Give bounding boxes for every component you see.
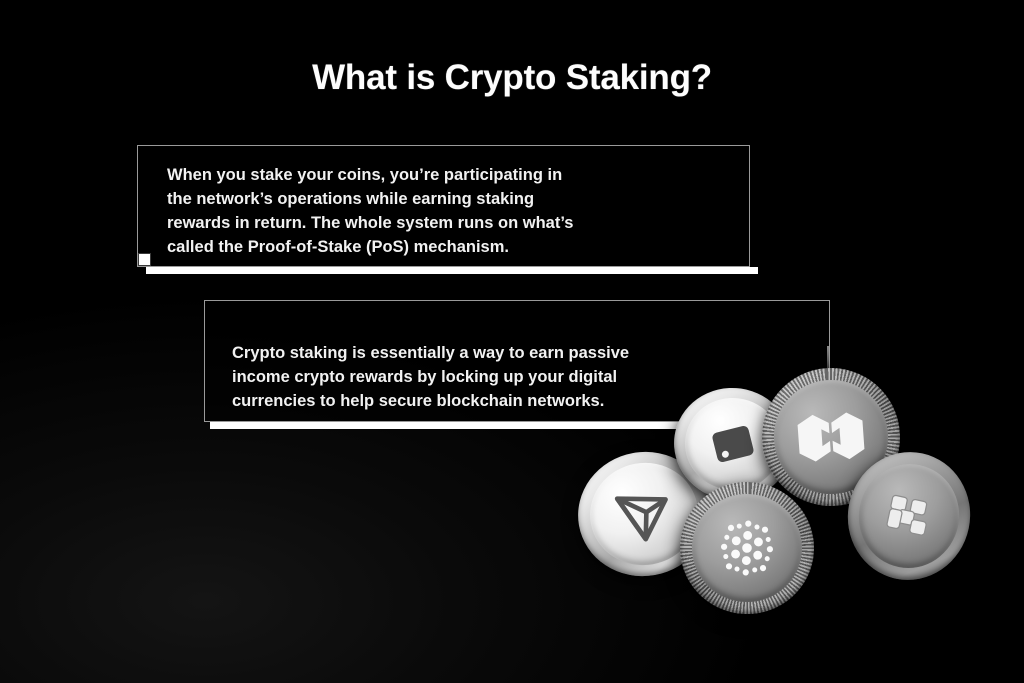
info-card-primary: When you stake your coins, you’re partic… xyxy=(137,145,750,267)
crypto-coin-cluster xyxy=(570,360,990,640)
card-underline-bar xyxy=(146,267,758,274)
cardano-glyph xyxy=(708,509,786,587)
card-corner-notch xyxy=(138,253,151,266)
page-title: What is Crypto Staking? xyxy=(0,58,1024,98)
info-card-primary-text: When you stake your coins, you’re partic… xyxy=(138,146,749,259)
diamond-glyph xyxy=(700,411,766,477)
polygon-glyph xyxy=(790,408,871,465)
binance-glyph xyxy=(872,479,946,553)
slide-canvas: What is Crypto Staking? When you stake y… xyxy=(0,0,1024,683)
tron-glyph xyxy=(606,476,682,552)
